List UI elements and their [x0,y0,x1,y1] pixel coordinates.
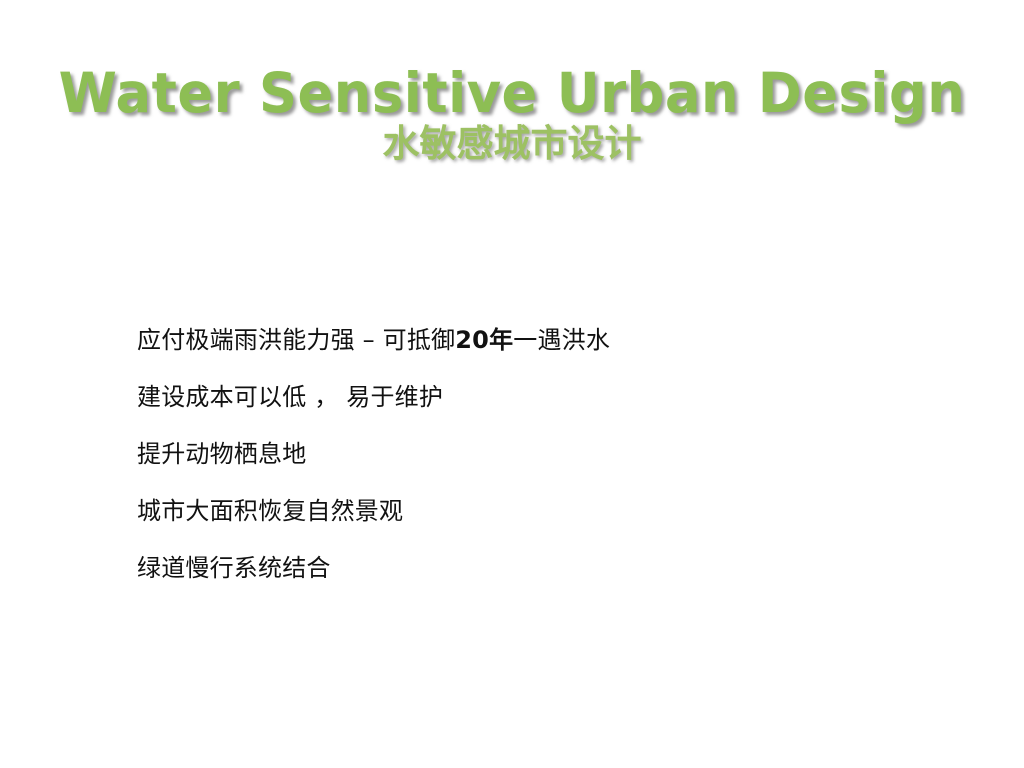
presentation-slide: Water Sensitive Urban Design 水敏感城市设计 应付极… [0,0,1024,768]
slide-title-block: Water Sensitive Urban Design 水敏感城市设计 [0,66,1024,162]
bullet-list: 应付极端雨洪能力强 – 可抵御20年一遇洪水 建设成本可以低 ， 易于维护 提升… [137,328,937,613]
list-item: 绿道慢行系统结合 [137,556,937,613]
list-item-emphasis: 20年 [455,326,513,354]
list-item: 提升动物栖息地 [137,442,937,499]
list-item-text: 应付极端雨洪能力强 – 可抵御 [137,326,455,354]
list-item: 应付极端雨洪能力强 – 可抵御20年一遇洪水 [137,328,937,385]
list-item-text: 建设成本可以低 ， 易于维护 [137,383,443,411]
list-item: 建设成本可以低 ， 易于维护 [137,385,937,442]
page-subtitle: 水敏感城市设计 [0,125,1024,162]
list-item-text: 绿道慢行系统结合 [137,554,331,582]
list-item-text: 城市大面积恢复自然景观 [137,497,403,525]
list-item-text: 一遇洪水 [513,326,610,354]
list-item: 城市大面积恢复自然景观 [137,499,937,556]
list-item-text: 提升动物栖息地 [137,440,306,468]
page-title: Water Sensitive Urban Design [20,66,1003,121]
